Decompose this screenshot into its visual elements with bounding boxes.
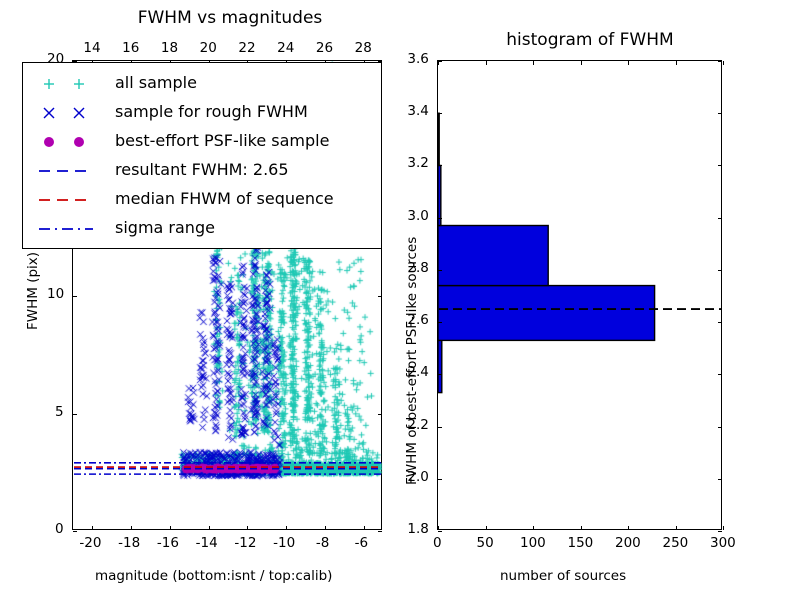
legend-label: sample for rough FWHM (115, 102, 308, 121)
x-tick-label: -14 (196, 535, 218, 551)
dashdot-line-marker-icon (31, 214, 111, 243)
legend-item: resultant FWHM: 2.65 (31, 156, 381, 185)
x-tick-label-top: 26 (316, 40, 333, 56)
legend-item: all sample (31, 69, 381, 98)
x-tick (676, 61, 677, 65)
x-tick (286, 526, 287, 530)
y-tick-label: 1.8 (407, 521, 428, 537)
x-tick (581, 526, 582, 530)
legend-label: resultant FWHM: 2.65 (115, 160, 289, 179)
y-tick (438, 374, 442, 375)
histogram-bar (438, 226, 548, 286)
y-tick (718, 427, 722, 428)
x-tick (325, 526, 326, 530)
y-tick-label: 5 (55, 404, 64, 420)
x-tick (581, 61, 582, 65)
x-tick (628, 526, 629, 530)
y-tick (73, 531, 77, 532)
x-tick (438, 61, 439, 65)
x-tick-label: 250 (663, 535, 689, 551)
x-tick-label-top: 18 (161, 40, 178, 56)
dot-marker-icon (31, 127, 111, 156)
histogram-bar (438, 286, 655, 341)
y-tick (718, 113, 722, 114)
y-tick (438, 218, 442, 219)
x-tick-label-top: 24 (277, 40, 294, 56)
x-tick (533, 526, 534, 530)
x-tick (723, 526, 724, 530)
x-tick-label: -18 (118, 535, 140, 551)
left-panel-title: FWHM vs magnitudes (70, 8, 390, 28)
x-tick-label: 100 (520, 535, 546, 551)
y-tick (73, 296, 77, 297)
histogram-bar (438, 165, 441, 225)
histogram-title: histogram of FWHM (420, 30, 760, 50)
x-tick-label: -8 (316, 535, 329, 551)
cross-marker-icon (31, 98, 111, 127)
x-tick-label: 0 (433, 535, 442, 551)
histogram-bar (438, 340, 442, 392)
x-tick (676, 526, 677, 530)
x-tick (209, 526, 210, 530)
legend-item: median FHWM of sequence (31, 185, 381, 214)
histogram-bars-layer (438, 61, 723, 531)
x-tick (723, 61, 724, 65)
histogram-xlabel: number of sources (500, 568, 626, 584)
y-tick (438, 270, 442, 271)
y-tick (438, 531, 442, 532)
scatter-ylabel: FWHM (pix) (25, 252, 41, 330)
x-tick (92, 526, 93, 530)
x-tick-label: -10 (273, 535, 295, 551)
legend-label: best-effort PSF-like sample (115, 131, 329, 150)
legend-item: best-effort PSF-like sample (31, 127, 381, 156)
y-tick-label: 3.0 (407, 208, 428, 224)
legend-label: all sample (115, 73, 197, 92)
x-tick-label: -6 (355, 535, 368, 551)
dashed-line-marker-icon (31, 185, 111, 214)
x-tick (486, 526, 487, 530)
x-tick-label: -16 (157, 535, 179, 551)
y-tick-label: 3.6 (407, 51, 428, 67)
y-tick-label: 3.4 (407, 103, 428, 119)
y-tick (718, 270, 722, 271)
legend-item: sample for rough FWHM (31, 98, 381, 127)
x-tick-label-top: 22 (238, 40, 255, 56)
y-tick-label: 3.2 (407, 155, 428, 171)
histogram-bar (438, 113, 439, 165)
y-tick (718, 61, 722, 62)
legend-marker (31, 98, 111, 127)
x-tick-label-top: 16 (122, 40, 139, 56)
legend-marker (31, 156, 111, 185)
x-tick-label: -20 (79, 535, 101, 551)
legend-label: median FHWM of sequence (115, 189, 334, 208)
scatter-xlabel: magnitude (bottom:isnt / top:calib) (95, 568, 332, 584)
x-tick (364, 526, 365, 530)
y-tick (438, 113, 442, 114)
x-tick (131, 526, 132, 530)
y-tick (718, 218, 722, 219)
dashed-line-marker-icon (31, 156, 111, 185)
x-tick (438, 526, 439, 530)
x-tick (628, 61, 629, 65)
y-tick (378, 296, 382, 297)
y-tick (718, 374, 722, 375)
x-tick-label-top: 28 (355, 40, 372, 56)
x-tick-label: 300 (710, 535, 736, 551)
y-tick (718, 322, 722, 323)
legend-label: sigma range (115, 218, 215, 237)
x-tick-label-top: 20 (200, 40, 217, 56)
y-tick-label: 0 (55, 521, 64, 537)
y-tick (73, 414, 77, 415)
legend-items: all samplesample for rough FWHMbest-effo… (23, 63, 381, 243)
y-tick (718, 479, 722, 480)
y-tick (438, 165, 442, 166)
y-tick (438, 427, 442, 428)
legend-marker (31, 214, 111, 243)
histogram-axes (437, 60, 722, 530)
y-tick (378, 531, 382, 532)
legend-marker (31, 69, 111, 98)
y-tick (718, 531, 722, 532)
y-tick-label: 10 (47, 286, 64, 302)
legend: all samplesample for rough FWHMbest-effo… (22, 62, 382, 249)
x-tick-label-top: 14 (83, 40, 100, 56)
x-tick-label: -12 (234, 535, 256, 551)
x-tick (533, 61, 534, 65)
x-tick (170, 526, 171, 530)
figure-canvas: FWHM vs magnitudes 05101520 -20-18-16-14… (0, 0, 800, 600)
histogram-ylabel: FWHM of best-effort PSF-like sources (404, 237, 420, 485)
plus-marker-icon (31, 69, 111, 98)
y-tick (378, 414, 382, 415)
y-tick (438, 322, 442, 323)
x-tick (247, 526, 248, 530)
x-tick-label: 50 (477, 535, 494, 551)
y-tick (718, 165, 722, 166)
x-tick-label: 200 (615, 535, 641, 551)
y-tick (438, 479, 442, 480)
x-tick (486, 61, 487, 65)
legend-marker (31, 127, 111, 156)
legend-marker (31, 185, 111, 214)
legend-item: sigma range (31, 214, 381, 243)
x-tick-label: 150 (568, 535, 594, 551)
